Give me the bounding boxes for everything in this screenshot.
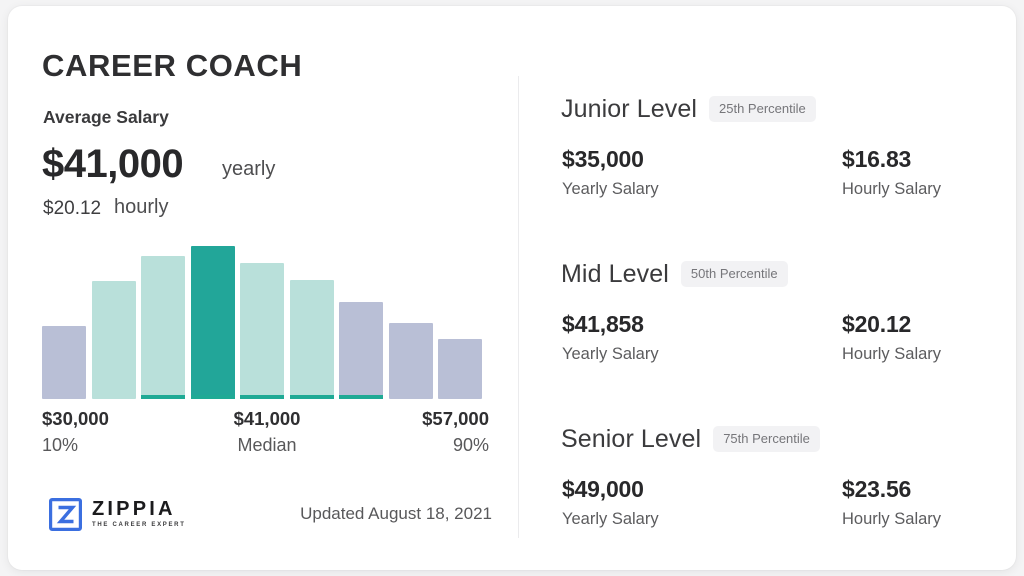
axis-tick-low-sub: 10%	[42, 432, 192, 458]
average-yearly-value: $41,000	[42, 142, 183, 187]
card-footer: ZIPPIA THE CAREER EXPERT Updated August …	[42, 496, 492, 542]
axis-tick-median: $41,000 Median	[192, 406, 342, 458]
chart-bar-underline	[240, 395, 284, 399]
average-hourly-unit: hourly	[114, 196, 168, 219]
average-hourly-value: $20.12	[43, 198, 101, 220]
senior-yearly-label: Yearly Salary	[562, 506, 782, 532]
panel-divider	[518, 76, 519, 538]
axis-tick-median-value: $41,000	[192, 406, 342, 432]
mid-hourly-cell: $20.12 Hourly Salary	[842, 309, 1016, 367]
chart-bar-underline	[339, 395, 383, 399]
junior-yearly-value: $35,000	[562, 144, 782, 174]
junior-hourly-value: $16.83	[842, 144, 1016, 174]
zippia-logo-icon[interactable]	[49, 498, 82, 531]
chart-bar-fill	[240, 263, 284, 399]
percentile-badge-junior: 25th Percentile	[709, 96, 816, 122]
average-salary-label: Average Salary	[43, 107, 169, 128]
mid-hourly-value: $20.12	[842, 309, 1016, 339]
level-header-senior: Senior Level 75th Percentile	[561, 422, 820, 456]
logo-tagline: THE CAREER EXPERT	[92, 520, 186, 530]
senior-hourly-label: Hourly Salary	[842, 506, 1016, 532]
level-name-mid: Mid Level	[561, 260, 669, 289]
chart-bar-underline	[141, 395, 185, 399]
level-section-senior: Senior Level 75th Percentile $49,000 Yea…	[561, 422, 1001, 547]
chart-bar-fill	[92, 281, 136, 399]
level-name-junior: Junior Level	[561, 95, 697, 124]
junior-yearly-label: Yearly Salary	[562, 176, 782, 202]
percentile-badge-mid: 50th Percentile	[681, 261, 788, 287]
junior-yearly-cell: $35,000 Yearly Salary	[562, 144, 782, 202]
chart-bar-fill	[141, 256, 185, 399]
logo-wordmark: ZIPPIA	[92, 499, 186, 520]
mid-yearly-value: $41,858	[562, 309, 782, 339]
chart-bar-fill	[339, 302, 383, 399]
level-header-mid: Mid Level 50th Percentile	[561, 257, 788, 291]
chart-bar-fill	[290, 280, 334, 399]
updated-date: Updated August 18, 2021	[300, 504, 492, 524]
salary-card: CAREER COACH Average Salary $41,000 year…	[8, 6, 1016, 570]
junior-hourly-cell: $16.83 Hourly Salary	[842, 144, 1016, 202]
left-panel: CAREER COACH Average Salary $41,000 year…	[42, 6, 512, 570]
axis-tick-median-sub: Median	[192, 432, 342, 458]
axis-tick-high: $57,000 90%	[339, 406, 489, 458]
percentile-badge-senior: 75th Percentile	[713, 426, 820, 452]
zippia-logo-text: ZIPPIA THE CAREER EXPERT	[92, 499, 186, 530]
chart-axis-labels: $30,000 10% $41,000 Median $57,000 90%	[42, 406, 492, 466]
chart-bar-underline	[191, 395, 235, 399]
chart-bar-fill	[389, 323, 433, 399]
chart-bar-fill	[42, 326, 86, 399]
mid-yearly-cell: $41,858 Yearly Salary	[562, 309, 782, 367]
chart-bar-underline	[290, 395, 334, 399]
axis-tick-high-sub: 90%	[339, 432, 489, 458]
senior-yearly-value: $49,000	[562, 474, 782, 504]
mid-hourly-label: Hourly Salary	[842, 341, 1016, 367]
senior-hourly-cell: $23.56 Hourly Salary	[842, 474, 1016, 532]
right-panel: Junior Level 25th Percentile $35,000 Yea…	[561, 6, 1001, 570]
level-name-senior: Senior Level	[561, 425, 701, 454]
junior-hourly-label: Hourly Salary	[842, 176, 1016, 202]
axis-tick-low-value: $30,000	[42, 406, 192, 432]
level-section-junior: Junior Level 25th Percentile $35,000 Yea…	[561, 92, 1001, 217]
level-section-mid: Mid Level 50th Percentile $41,858 Yearly…	[561, 257, 1001, 382]
average-yearly-unit: yearly	[222, 158, 275, 181]
senior-yearly-cell: $49,000 Yearly Salary	[562, 474, 782, 532]
axis-tick-high-value: $57,000	[339, 406, 489, 432]
axis-tick-low: $30,000 10%	[42, 406, 192, 458]
chart-bar-fill	[191, 246, 235, 399]
level-header-junior: Junior Level 25th Percentile	[561, 92, 816, 126]
salary-distribution-chart	[42, 244, 492, 399]
mid-yearly-label: Yearly Salary	[562, 341, 782, 367]
page-title: CAREER COACH	[42, 48, 302, 84]
chart-bar-fill	[438, 339, 482, 399]
senior-hourly-value: $23.56	[842, 474, 1016, 504]
